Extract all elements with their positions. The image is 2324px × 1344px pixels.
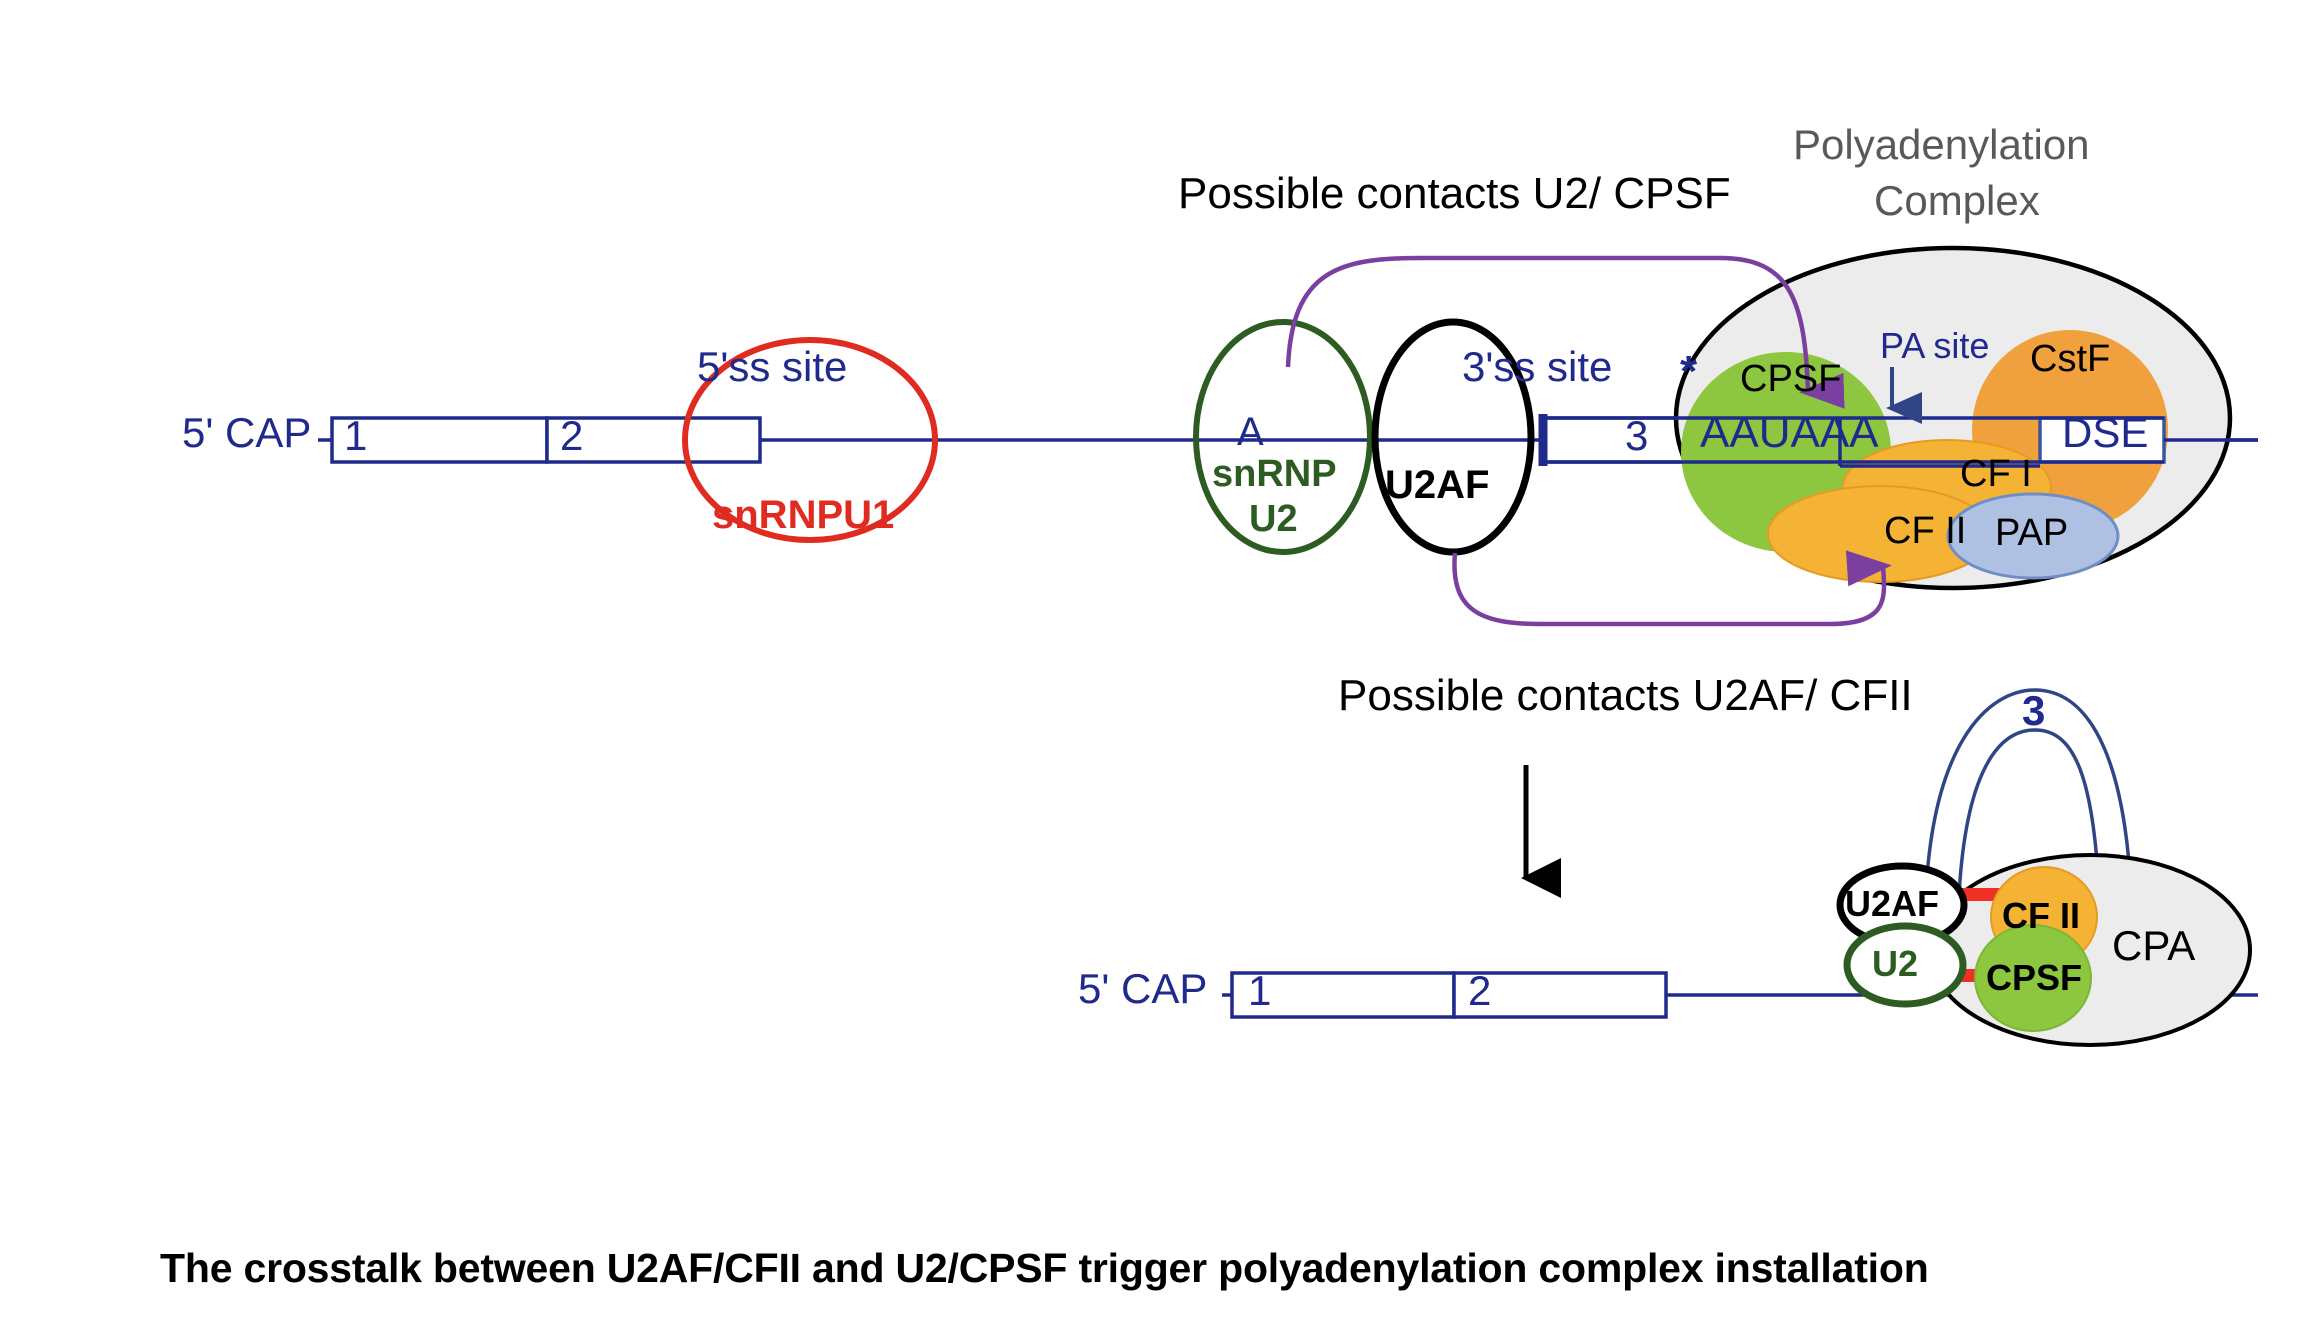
branch-point-label: A xyxy=(1237,412,1264,452)
snrnp-u2-line2: U2 xyxy=(1249,500,1298,538)
figure-canvas: 5' CAP 1 2 3 A * AAUAAA DSE PA site 5'ss… xyxy=(0,0,2324,1344)
cpa-ellipse xyxy=(1930,855,2250,1045)
snrnp-u2-line1: snRNP xyxy=(1212,455,1337,493)
cpa-label: CPA xyxy=(2112,925,2195,967)
cpsf-label: CPSF xyxy=(1740,360,1841,398)
bottom-exon-2-label: 2 xyxy=(1468,970,1491,1012)
pa-site-label: PA site xyxy=(1880,328,1989,364)
bottom-exon-1-label: 1 xyxy=(1248,970,1271,1012)
cfii-label: CF II xyxy=(1884,512,1966,550)
top-exon-1-label: 1 xyxy=(344,415,367,457)
cfi-label: CF I xyxy=(1960,455,2032,493)
top-cap-label: 5' CAP xyxy=(182,412,311,454)
u2af-label: U2AF xyxy=(1385,465,1489,505)
cstf-label: CstF xyxy=(2030,340,2110,378)
u2af-label-bottom: U2AF xyxy=(1845,886,1939,922)
top-exon-2-label: 2 xyxy=(560,415,583,457)
bottom-cap-label: 5' CAP xyxy=(1078,968,1207,1010)
cfii-label-bottom: CF II xyxy=(2002,898,2080,934)
five-prime-ss-title: 5'ss site xyxy=(697,346,847,388)
polyadenylation-complex-title-line2: Complex xyxy=(1874,180,2040,222)
u2-label-bottom: U2 xyxy=(1872,946,1918,982)
annotation-contact-u2-cpsf: Possible contacts U2/ CPSF xyxy=(1178,172,1731,216)
pas-hexamer-label: AAUAAA xyxy=(1700,411,1879,455)
figure-caption: The crosstalk between U2AF/CFII and U2/C… xyxy=(160,1248,1929,1289)
three-prime-ss-title: 3'ss site xyxy=(1462,346,1612,388)
annotation-contact-u2af-cfii: Possible contacts U2AF/ CFII xyxy=(1338,674,1913,718)
polyadenylation-complex-title-line1: Polyadenylation xyxy=(1793,124,2090,166)
loop-exon-3-label: 3 xyxy=(2022,690,2045,732)
pap-label: PAP xyxy=(1995,514,2068,552)
asterisk-label: * xyxy=(1680,350,1697,394)
snrnpu1-label: snRNPU1 xyxy=(712,495,894,535)
top-exon-3-label: 3 xyxy=(1625,415,1648,457)
dse-label: DSE xyxy=(2062,412,2148,454)
cpsf-label-bottom: CPSF xyxy=(1986,960,2082,996)
